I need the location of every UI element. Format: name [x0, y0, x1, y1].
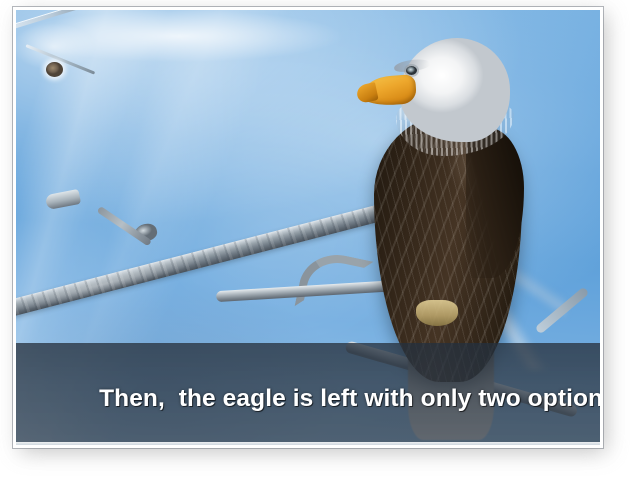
- photo-bottom-edge: [16, 442, 600, 445]
- caption-overlay-band: Then, the eagle is left with only two op…: [16, 343, 600, 445]
- page-root: Then, the eagle is left with only two op…: [0, 0, 632, 484]
- photograph: Then, the eagle is left with only two op…: [16, 10, 600, 445]
- photo-frame: Then, the eagle is left with only two op…: [13, 7, 603, 448]
- twig-bud: [46, 62, 63, 77]
- caption-line-1: Then, the eagle is left with only two op…: [30, 349, 586, 445]
- eagle-eye: [406, 66, 417, 75]
- caption-line-1-text: Then, the eagle is left with only two op…: [99, 385, 600, 412]
- eagle-head: [400, 38, 510, 142]
- eagle-talons: [416, 300, 458, 326]
- twig-frost-glow: [16, 18, 132, 70]
